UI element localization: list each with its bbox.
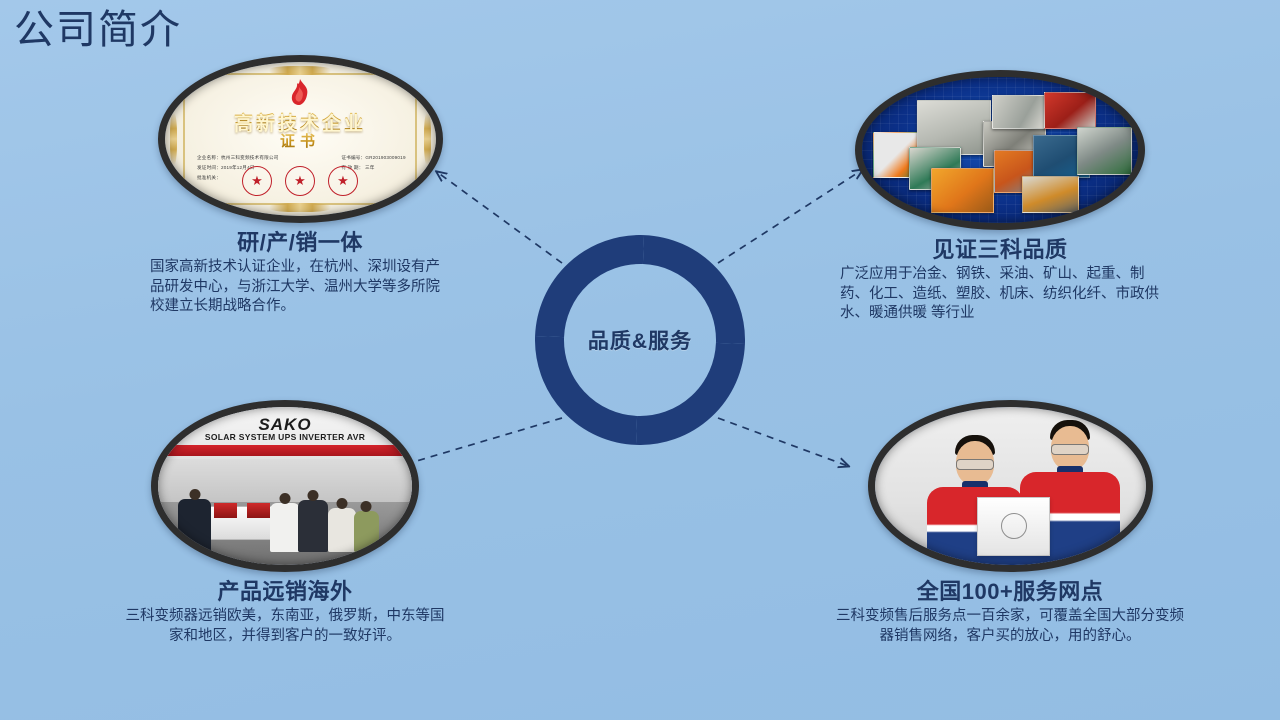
feature-block-quality: 见证三科品质 广泛应用于冶金、钢铁、采油、矿山、起重、制药、化工、造纸、塑胶、机…	[840, 70, 1160, 323]
center-hub[interactable]: 品质&服务	[535, 235, 745, 445]
collage-tile	[1022, 176, 1079, 213]
booth-visitor	[328, 508, 356, 552]
feature-block-rd: 高新技术企业 证书 企业名称：杭州三科变频技术有限公司 发证时间：2019年12…	[150, 55, 450, 316]
technicians-image[interactable]	[868, 400, 1153, 572]
booth-product-box	[214, 503, 237, 517]
industrial-collage-artwork	[862, 77, 1138, 223]
page-title: 公司简介	[14, 8, 182, 52]
center-hub-label: 品质&服务	[535, 235, 745, 445]
booth-visitor	[298, 500, 328, 552]
feature-body-export: 三科变频器远销欧美，东南亚，俄罗斯，中东等国家和地区，并得到客户的一致好评。	[120, 607, 450, 646]
trade-show-artwork: SAKO SOLAR SYSTEM UPS INVERTER AVR	[158, 407, 412, 565]
product-box	[977, 497, 1049, 556]
collage-tile	[931, 168, 994, 214]
feature-block-service: 全国100+服务网点 三科变频售后服务点一百余家，可覆盖全国大部分变频器销售网络…	[830, 400, 1190, 646]
feature-body-quality: 广泛应用于冶金、钢铁、采油、矿山、起重、制药、化工、造纸、塑胶、机床、纺织化纤、…	[840, 265, 1160, 323]
slide-canvas: 公司简介 品质&服务	[0, 0, 1280, 720]
seal-icon: ★	[242, 166, 272, 196]
booth-visitor	[354, 511, 379, 552]
certificate-subheading: 证书	[165, 130, 436, 151]
technicians-artwork	[875, 407, 1146, 565]
industrial-collage-image[interactable]	[855, 70, 1145, 230]
seal-icon: ★	[328, 166, 358, 196]
trade-show-image[interactable]: SAKO SOLAR SYSTEM UPS INVERTER AVR	[151, 400, 419, 572]
certificate-image[interactable]: 高新技术企业 证书 企业名称：杭州三科变频技术有限公司 发证时间：2019年12…	[158, 55, 443, 223]
booth-visitor	[270, 503, 300, 552]
booth-tagline-label: SOLAR SYSTEM UPS INVERTER AVR	[158, 432, 412, 442]
safety-glasses-icon	[1051, 444, 1089, 455]
certificate-ornament-bottom	[269, 203, 331, 212]
collage-tile	[1044, 92, 1096, 129]
certificate-ornament-top	[269, 66, 331, 75]
feature-title-export: 产品远销海外	[120, 579, 450, 604]
certificate-meta-line: 企业名称：杭州三科变频技术有限公司	[197, 153, 279, 163]
feature-title-rd: 研/产/销一体	[150, 230, 450, 255]
certificate-seals: ★ ★ ★	[242, 166, 358, 196]
booth-product-box	[247, 503, 270, 517]
safety-glasses-icon	[956, 459, 994, 470]
feature-block-export: SAKO SOLAR SYSTEM UPS INVERTER AVR 产品远销海…	[120, 400, 450, 646]
collage-tile	[1077, 127, 1131, 176]
fan-icon	[1001, 513, 1027, 539]
feature-body-service: 三科变频售后服务点一百余家，可覆盖全国大部分变频器销售网络，客户买的放心，用的舒…	[830, 607, 1190, 646]
booth-visitor	[178, 499, 211, 553]
feature-title-service: 全国100+服务网点	[830, 579, 1190, 604]
collage-tile	[992, 95, 1049, 129]
certificate-meta-line: 证书编号：GR201903009019	[341, 153, 405, 163]
flame-logo-icon	[289, 79, 311, 105]
feature-body-rd: 国家高新技术认证企业，在杭州、深圳设有产品研发中心，与浙江大学、温州大学等多所院…	[150, 258, 450, 316]
feature-title-quality: 见证三科品质	[840, 237, 1160, 262]
booth-red-band	[158, 445, 412, 456]
seal-icon: ★	[285, 166, 315, 196]
certificate-artwork: 高新技术企业 证书 企业名称：杭州三科变频技术有限公司 发证时间：2019年12…	[165, 62, 436, 216]
